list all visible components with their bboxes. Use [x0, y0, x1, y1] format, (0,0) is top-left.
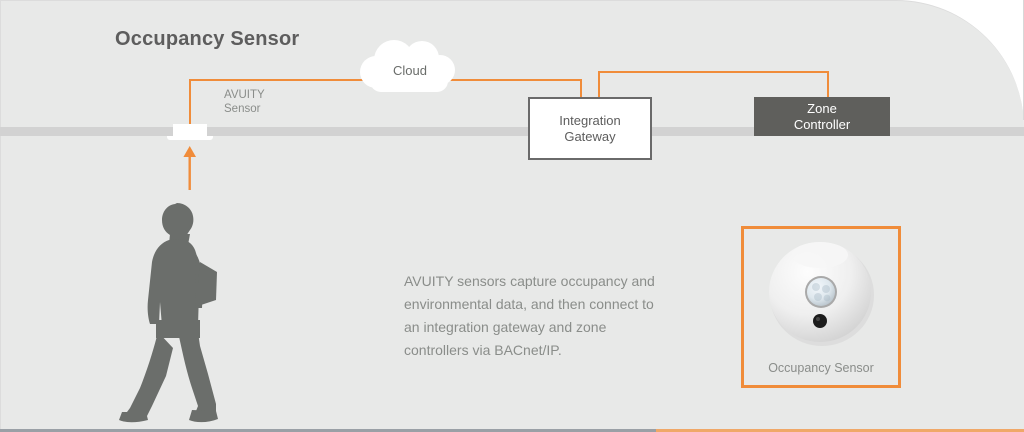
cloud-label: Cloud [356, 38, 464, 94]
integration-gateway-node: Integration Gateway [528, 97, 652, 160]
sensor-wire-label: AVUITY Sensor [224, 88, 265, 116]
cloud-node: Cloud [356, 38, 464, 94]
occupancy-sensor-product-photo [744, 233, 898, 351]
product-caption: Occupancy Sensor [744, 361, 898, 375]
wire-gateway-right-riser [598, 72, 600, 98]
wire-zone-drop [827, 71, 829, 98]
description-text: AVUITY sensors capture occupancy and env… [404, 270, 666, 362]
walking-person-silhouette [112, 196, 244, 424]
occupancy-detection-arrow [182, 146, 198, 190]
ceiling-sensor-body [173, 124, 207, 136]
product-photo-card: Occupancy Sensor [741, 226, 901, 388]
wire-sensor-riser [189, 80, 191, 127]
wire-gateway-to-zone [598, 71, 829, 73]
page-title: Occupancy Sensor [115, 28, 299, 51]
wire-gateway-drop [580, 79, 582, 98]
ceiling-sensor-base [167, 136, 213, 140]
zone-controller-node: Zone Controller [754, 97, 890, 136]
occupancy-sensor-diagram: Occupancy Sensor AVUITY Sensor [0, 0, 1024, 432]
